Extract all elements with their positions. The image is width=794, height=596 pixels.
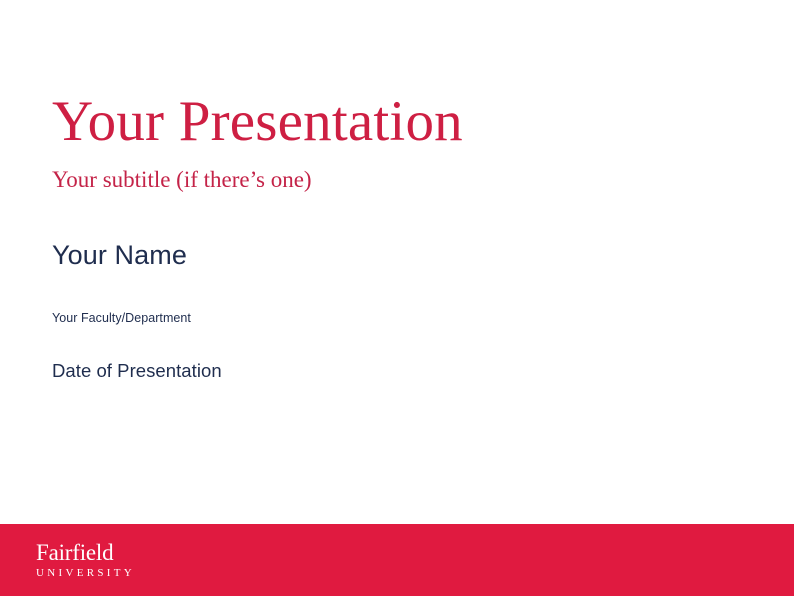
title-slide: Your Presentation Your subtitle (if ther… [0, 0, 794, 596]
presenter-block: Your Name Your Faculty/Department Date o… [52, 240, 752, 382]
logo-subword: UNIVERSITY [36, 568, 135, 579]
fairfield-university-logo: Fairfield UNIVERSITY [36, 541, 135, 579]
footer-bar: Fairfield UNIVERSITY [0, 524, 794, 596]
presentation-date: Date of Presentation [52, 360, 752, 382]
title-block: Your Presentation Your subtitle (if ther… [52, 92, 752, 194]
presenter-department: Your Faculty/Department [52, 311, 752, 326]
page-subtitle: Your subtitle (if there’s one) [52, 166, 752, 194]
presenter-name: Your Name [52, 240, 752, 271]
logo-wordmark: Fairfield [36, 541, 135, 564]
page-title: Your Presentation [52, 92, 752, 152]
